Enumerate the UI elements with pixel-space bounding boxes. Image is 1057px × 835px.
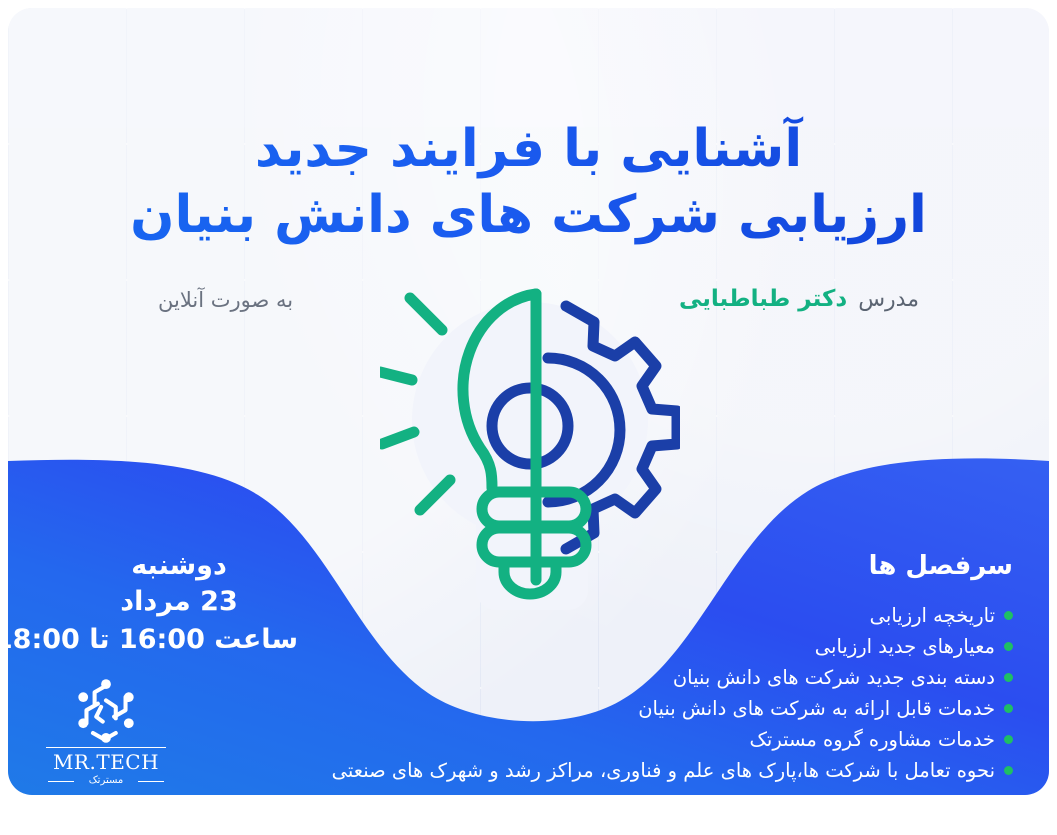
topics-section: سرفصل ها تاریخچه ارزیابیمعیارهای جدید ار…: [313, 548, 1013, 786]
topic-item: خدمات مشاوره گروه مسترتک: [749, 724, 1013, 755]
topic-item: خدمات قابل ارائه به شرکت های دانش بنیان: [638, 693, 1013, 724]
instructor-line: مدرس دکتر طباطبایی: [679, 286, 919, 312]
topic-item-label: دسته بندی جدید شرکت های دانش بنیان: [673, 662, 995, 693]
bullet-icon: [1004, 611, 1013, 620]
bullet-icon: [1004, 735, 1013, 744]
event-time: ساعت 16:00 تا 18:00: [38, 620, 298, 660]
online-note: به صورت آنلاین: [158, 288, 293, 312]
topic-item-label: تاریخچه ارزیابی: [870, 600, 995, 631]
logo-wordmark: MR.TECH: [46, 747, 166, 774]
event-date-block: دوشنبه 23 مرداد ساعت 16:00 تا 18:00: [38, 548, 298, 660]
bullet-icon: [1004, 766, 1013, 775]
topic-item: نحوه تعامل با شرکت ها،پارک های علم و فنا…: [332, 755, 1013, 786]
bullet-icon: [1004, 704, 1013, 713]
title-line-2: ارزیابی شرکت های دانش بنیان: [8, 182, 1049, 248]
topic-item: معیارهای جدید ارزیابی: [815, 631, 1013, 662]
topic-item: دسته بندی جدید شرکت های دانش بنیان: [673, 662, 1013, 693]
event-date: 23 مرداد: [38, 584, 298, 620]
event-day: دوشنبه: [38, 548, 298, 584]
topic-item-label: خدمات مشاوره گروه مسترتک: [749, 724, 995, 755]
topic-item-label: نحوه تعامل با شرکت ها،پارک های علم و فنا…: [332, 755, 995, 786]
logo-wordmark-fa: مسترتک: [46, 775, 166, 786]
topics-list: تاریخچه ارزیابیمعیارهای جدید ارزیابیدسته…: [313, 600, 1013, 786]
topic-item-label: معیارهای جدید ارزیابی: [815, 631, 995, 662]
topic-item: تاریخچه ارزیابی: [870, 600, 1013, 631]
brand-logo: MR.TECH مسترتک: [46, 676, 166, 786]
poster-canvas: آشنایی با فرایند جدید ارزیابی شرکت های د…: [8, 8, 1049, 795]
network-logo-icon: [63, 676, 149, 746]
bullet-icon: [1004, 642, 1013, 651]
instructor-name: دکتر طباطبایی: [679, 286, 847, 312]
instructor-prefix-label: مدرس: [858, 287, 919, 312]
title-block: آشنایی با فرایند جدید ارزیابی شرکت های د…: [8, 116, 1049, 248]
bullet-icon: [1004, 673, 1013, 682]
title-line-1: آشنایی با فرایند جدید: [8, 116, 1049, 182]
topics-heading: سرفصل ها: [313, 548, 1013, 584]
topic-item-label: خدمات قابل ارائه به شرکت های دانش بنیان: [638, 693, 995, 724]
meta-row: مدرس دکتر طباطبایی به صورت آنلاین: [8, 286, 1049, 326]
